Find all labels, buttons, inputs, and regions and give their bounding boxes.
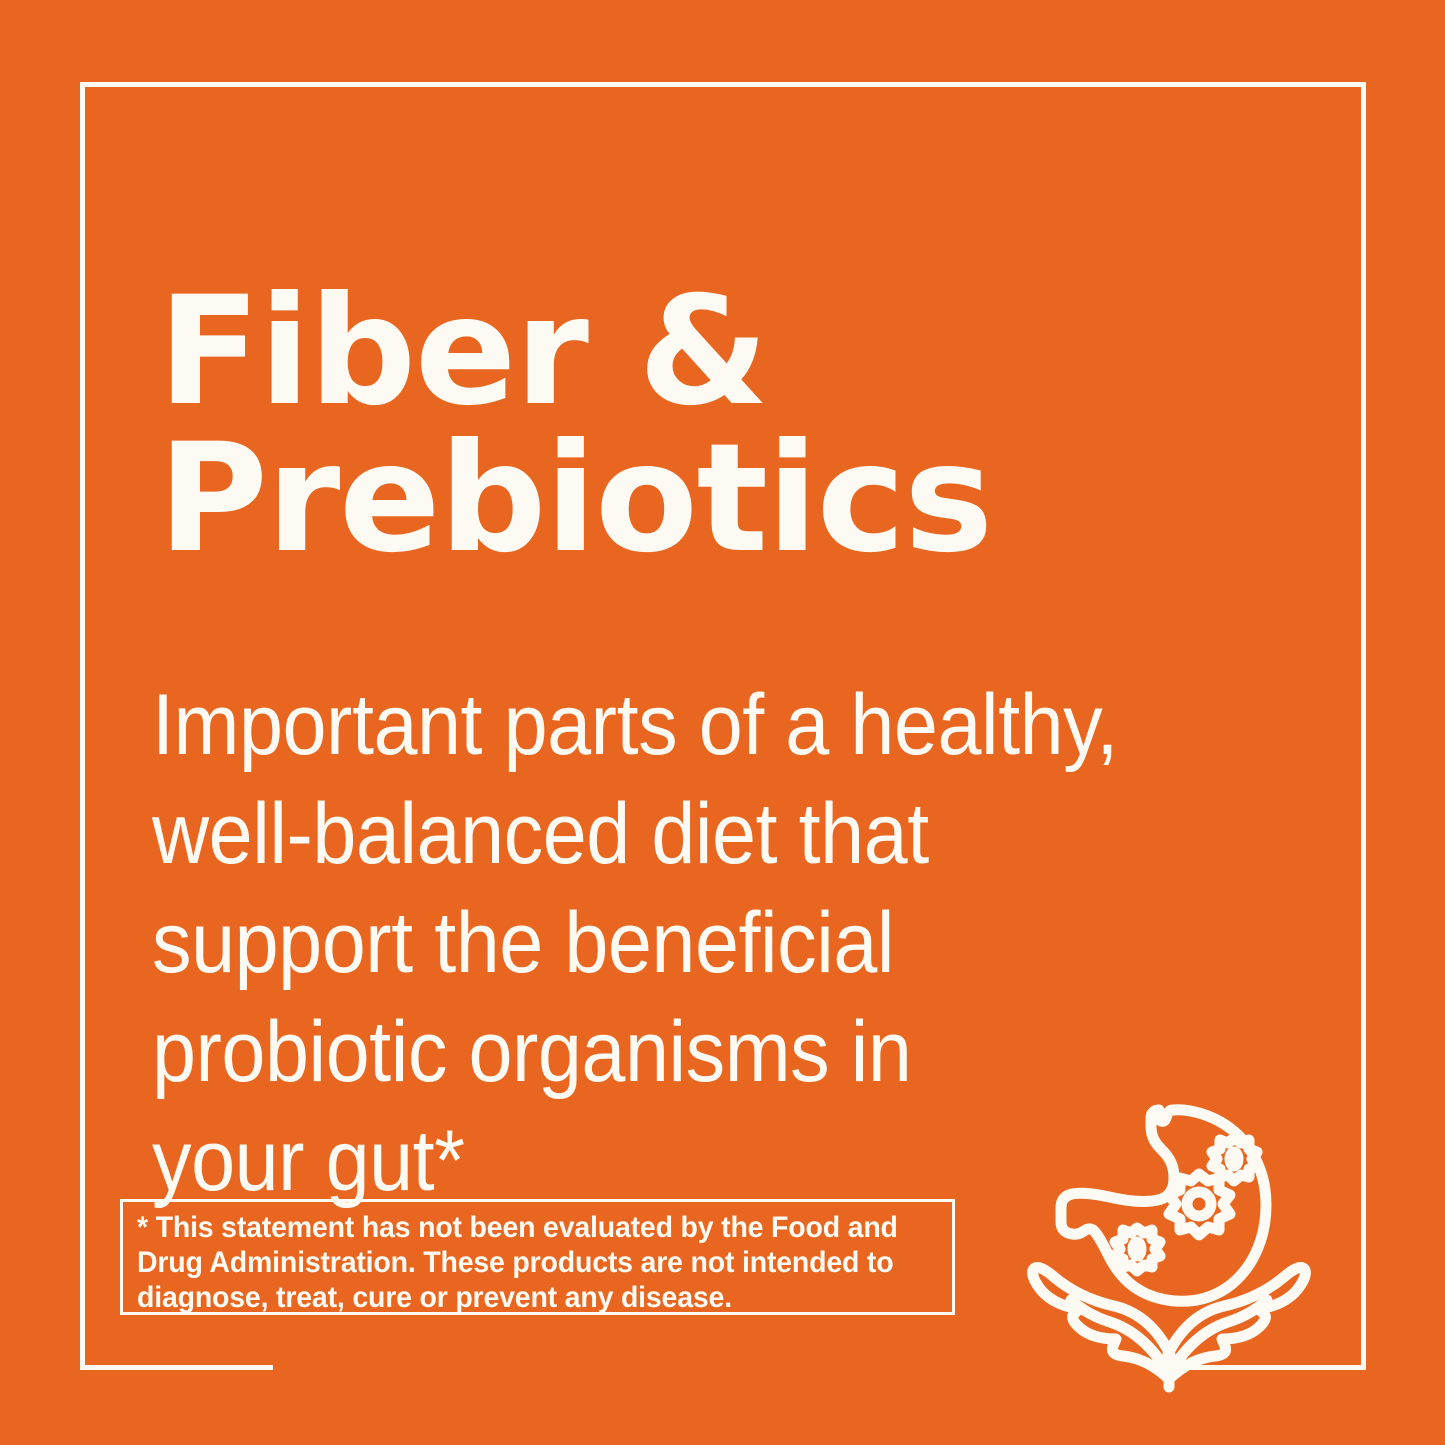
microbe-small-upper-nucleus [1230,1152,1238,1166]
microbe-large-nucleus [1187,1192,1211,1216]
microbe-large [1169,1174,1230,1235]
page-title: Fiber & Prebiotics [158,279,1158,573]
stomach-probiotics-leaves-icon [1004,1082,1334,1412]
microbe-small-lower-nucleus [1133,1242,1141,1256]
fiber-prebiotics-card: Fiber & Prebiotics Important parts of a … [0,0,1445,1445]
frame-border-bottom-left [80,1365,273,1370]
disclaimer-text: * This statement has not been evaluated … [137,1210,916,1315]
microbe-large-body [1169,1174,1230,1235]
microbe-small-upper [1212,1138,1257,1181]
frame-border-top [80,82,1366,87]
disclaimer-box: * This statement has not been evaluated … [120,1199,955,1315]
stomach-probiotics-leaves-svg [1004,1082,1334,1412]
frame-border-right [1361,82,1366,1370]
leaf-left [1033,1267,1170,1379]
microbe-small-lower [1115,1228,1160,1271]
frame-border-left [80,82,85,1370]
